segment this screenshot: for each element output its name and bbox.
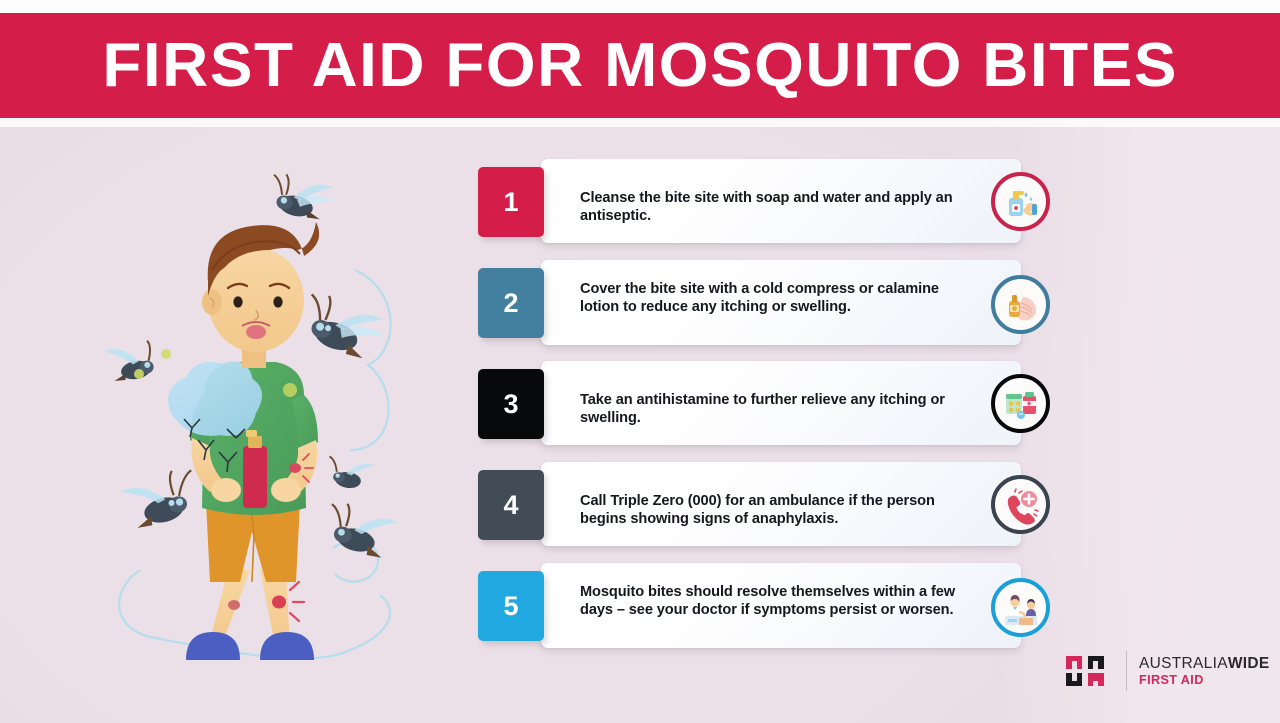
calamine-lotion-hand-icon [991, 275, 1050, 334]
logo-australia-text: AUSTRALIA [1139, 655, 1228, 672]
doctor-consultation-icon [991, 578, 1050, 637]
step-number: 2 [503, 288, 518, 319]
step-description: Mosquito bites should resolve themselves… [580, 583, 970, 620]
cross-logo-mark [1064, 648, 1114, 694]
step-row: 3 Take an antihistamine to further relie… [478, 357, 1078, 447]
emergency-phone-call-icon [991, 475, 1050, 534]
step-number-badge: 5 [478, 571, 544, 641]
step-description: Cleanse the bite site with soap and wate… [580, 189, 970, 226]
step-number-badge: 1 [478, 167, 544, 237]
step-number: 3 [503, 389, 518, 420]
boy-with-mosquito-bites-illustration [100, 150, 440, 690]
header-bottom-gap [0, 118, 1280, 127]
logo-wordmark: AUSTRALIAWIDE FIRST AID [1139, 654, 1270, 688]
step-row: 2 Cover the bite site with a cold compre… [478, 256, 1078, 348]
step-description: Cover the bite site with a cold compress… [580, 280, 970, 317]
header-band: FIRST AID FOR MOSQUITO BITES [0, 13, 1280, 118]
page-title: FIRST AID FOR MOSQUITO BITES [102, 35, 1178, 97]
logo-line-1: AUSTRALIAWIDE [1139, 654, 1270, 673]
step-number: 5 [503, 591, 518, 622]
step-description: Take an antihistamine to further relieve… [580, 391, 970, 428]
australia-wide-first-aid-logo: AUSTRALIAWIDE FIRST AID [1064, 645, 1264, 697]
logo-wide-text: WIDE [1228, 655, 1270, 672]
step-number: 4 [503, 490, 518, 521]
step-number-badge: 4 [478, 470, 544, 540]
top-white-strip [0, 0, 1280, 13]
step-description: Call Triple Zero (000) for an ambulance … [580, 492, 970, 529]
step-number: 1 [503, 187, 518, 218]
steps-list: 1 Cleanse the bite site with soap and wa… [478, 155, 1078, 665]
step-row: 5 Mosquito bites should resolve themselv… [478, 559, 1078, 651]
soap-dispenser-handwash-icon [991, 172, 1050, 231]
step-number-badge: 3 [478, 369, 544, 439]
step-row: 1 Cleanse the bite site with soap and wa… [478, 155, 1078, 245]
logo-line-2: FIRST AID [1139, 673, 1270, 688]
step-row: 4 Call Triple Zero (000) for an ambulanc… [478, 458, 1078, 548]
logo-divider [1126, 651, 1127, 691]
step-number-badge: 2 [478, 268, 544, 338]
antihistamine-medicine-icon [991, 374, 1050, 433]
